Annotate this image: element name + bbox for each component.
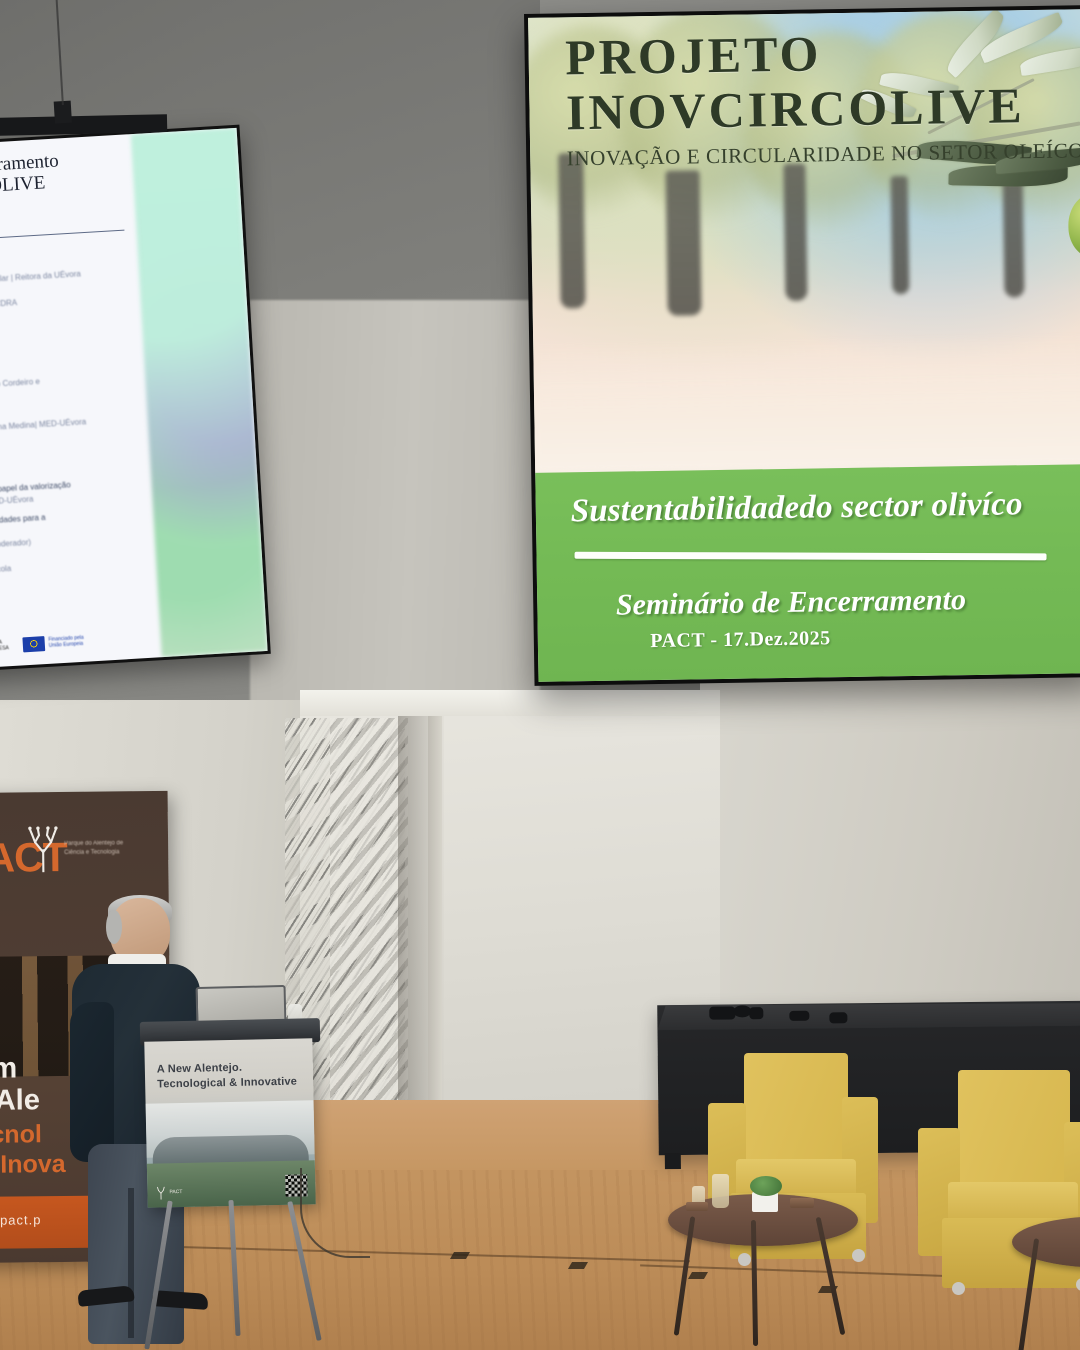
slide-band-headline: Sustentabilidadedo sector olivíco	[570, 486, 1023, 530]
republica-portuguesa-logo: REPÚBLICA PORTUGUESA	[0, 639, 9, 655]
speaker-leg-split	[128, 1188, 134, 1338]
podium-tripod-stand	[150, 1200, 320, 1350]
slide-title-block: PROJETO INOVCIRCOLIVE INOVAÇÃO E CIRCULA…	[565, 25, 1080, 172]
alcove-panel-lintel	[300, 690, 720, 716]
pact-claim-line3: Tecnol	[0, 1120, 42, 1150]
pact-url: pact.p	[0, 1212, 42, 1227]
olive-grove-photo: PROJETO INOVCIRCOLIVE INOVAÇÃO E CIRCULA…	[528, 9, 1080, 473]
speaker-hair-side	[106, 910, 122, 944]
coffee-table-right	[1012, 1198, 1080, 1350]
pact-tagline: Parque do Alentejo de Ciência e Tecnolog…	[64, 839, 144, 858]
eu-flag-icon	[22, 636, 45, 652]
eu-line2: União Europeia	[49, 641, 84, 649]
water-carafe	[712, 1174, 729, 1208]
av-equipment-item	[829, 1012, 847, 1023]
av-equipment-item	[709, 1006, 735, 1019]
av-equipment-item	[749, 1007, 763, 1019]
table-coaster	[790, 1198, 814, 1208]
podium-badge-text: PACT	[169, 1189, 182, 1195]
speaker-arm	[70, 1002, 114, 1162]
podium-pact-badge: PACT	[155, 1185, 185, 1200]
av-cabinet-leg	[665, 1153, 681, 1169]
conference-room-photo: …o de Encerramento …OVCIRCOLIVE …de deze…	[0, 0, 1080, 1350]
coffee-table-left	[668, 1176, 868, 1346]
slide-title-line1: PROJETO	[565, 25, 1080, 84]
european-union-logo: Financiado pela União Europeia	[22, 633, 84, 652]
slide-green-band: Sustentabilidadedo sector olivíco Seminá…	[535, 464, 1080, 682]
podium-sign-line1: A New Alentejo.	[157, 1060, 307, 1075]
rp-line2: PORTUGUESA	[0, 645, 9, 653]
slide-title-line2: INOVCIRCOLIVE	[566, 80, 1080, 139]
pact-tree-icon	[155, 1185, 166, 1199]
plant-foliage	[750, 1176, 782, 1196]
agenda-screen[interactable]: …o de Encerramento …OVCIRCOLIVE …de deze…	[0, 125, 271, 675]
slide-event-date: PACT - 17.Dez.2025	[650, 627, 831, 653]
main-presentation-screen[interactable]: PROJETO INOVCIRCOLIVE INOVAÇÃO E CIRCULA…	[524, 5, 1080, 686]
right-lower-wall	[700, 640, 1080, 1060]
pact-claim-line4: e Inova	[0, 1150, 66, 1180]
podium-sign-line2: Tecnological & Innovative	[157, 1075, 307, 1090]
grove-ground	[533, 337, 1080, 473]
pact-claim-line2: Ale	[0, 1084, 40, 1117]
av-equipment-item	[789, 1011, 809, 1021]
slide-band-rule	[575, 551, 1047, 560]
pact-claim-line1: Um	[0, 1052, 17, 1085]
pact-tree-icon	[26, 826, 60, 872]
wall-light-patch	[250, 300, 540, 740]
slide-event-name: Seminário de Encerramento	[616, 583, 967, 622]
podium-sign: A New Alentejo. Tecnological & Innovativ…	[144, 1038, 315, 1207]
table-coaster	[686, 1202, 708, 1211]
